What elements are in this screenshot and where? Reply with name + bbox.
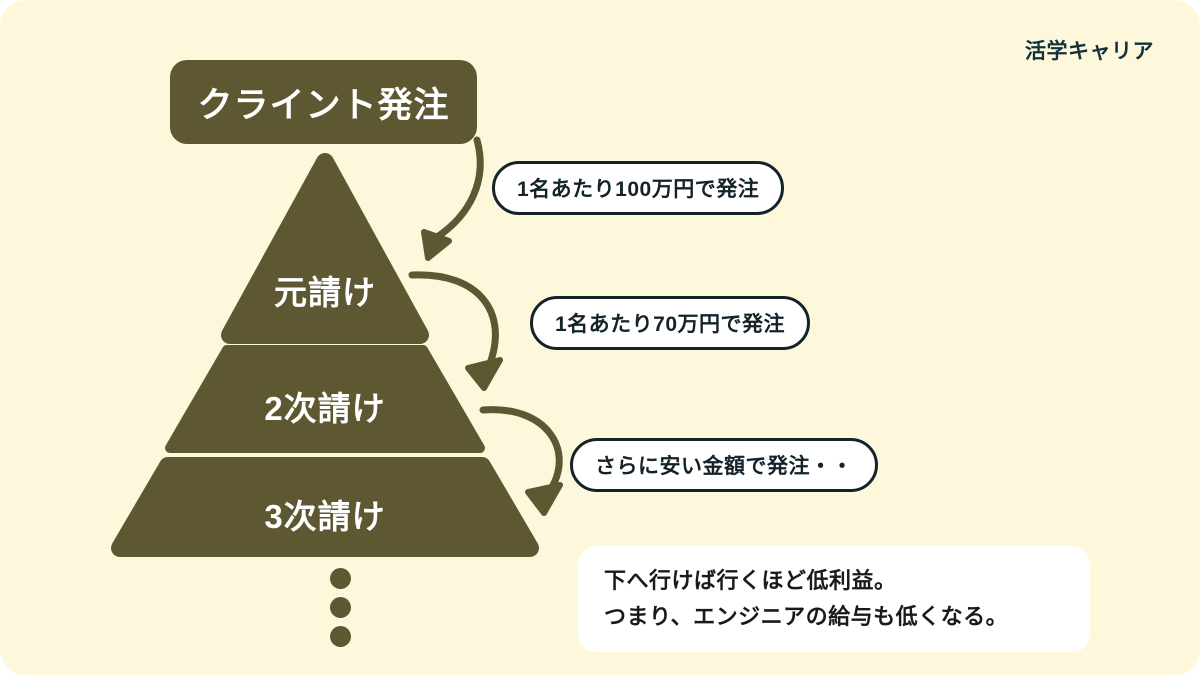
pyramid-tier-label-2: 2次請け	[90, 382, 560, 430]
pyramid-tier-label-1: 元請け	[90, 266, 560, 314]
callout-text-2: 1名あたり70万円で発注	[555, 308, 785, 338]
summary-note-line-2: つまり、エンジニアの給与も低くなる。	[604, 602, 1064, 632]
callout-pill-2: 1名あたり70万円で発注	[530, 296, 810, 350]
callout-pill-1: 1名あたり100万円で発注	[492, 161, 784, 215]
continuation-dot-1	[330, 568, 351, 589]
summary-note-line-1: 下へ行けば行くほど低利益。	[604, 566, 1064, 596]
continuation-dot-3	[330, 626, 351, 647]
client-order-box: クライント発注	[170, 60, 477, 144]
subcontracting-pyramid: 元請け 2次請け 3次請け	[90, 150, 560, 570]
continuation-dot-2	[330, 597, 351, 618]
infographic-canvas: 活学キャリア クライント発注 元請け 2次請け 3次請け 1名	[0, 0, 1200, 675]
brand-logo: 活学キャリア	[1025, 35, 1154, 65]
callout-pill-3: さらに安い金額で発注・・	[570, 438, 878, 492]
callout-text-3: さらに安い金額で発注・・	[595, 450, 853, 480]
pyramid-tier-label-3: 3次請け	[90, 490, 560, 538]
callout-text-1: 1名あたり100万円で発注	[517, 173, 759, 203]
client-order-label: クライント発注	[197, 77, 449, 128]
summary-note-box: 下へ行けば行くほど低利益。 つまり、エンジニアの給与も低くなる。	[578, 546, 1090, 652]
